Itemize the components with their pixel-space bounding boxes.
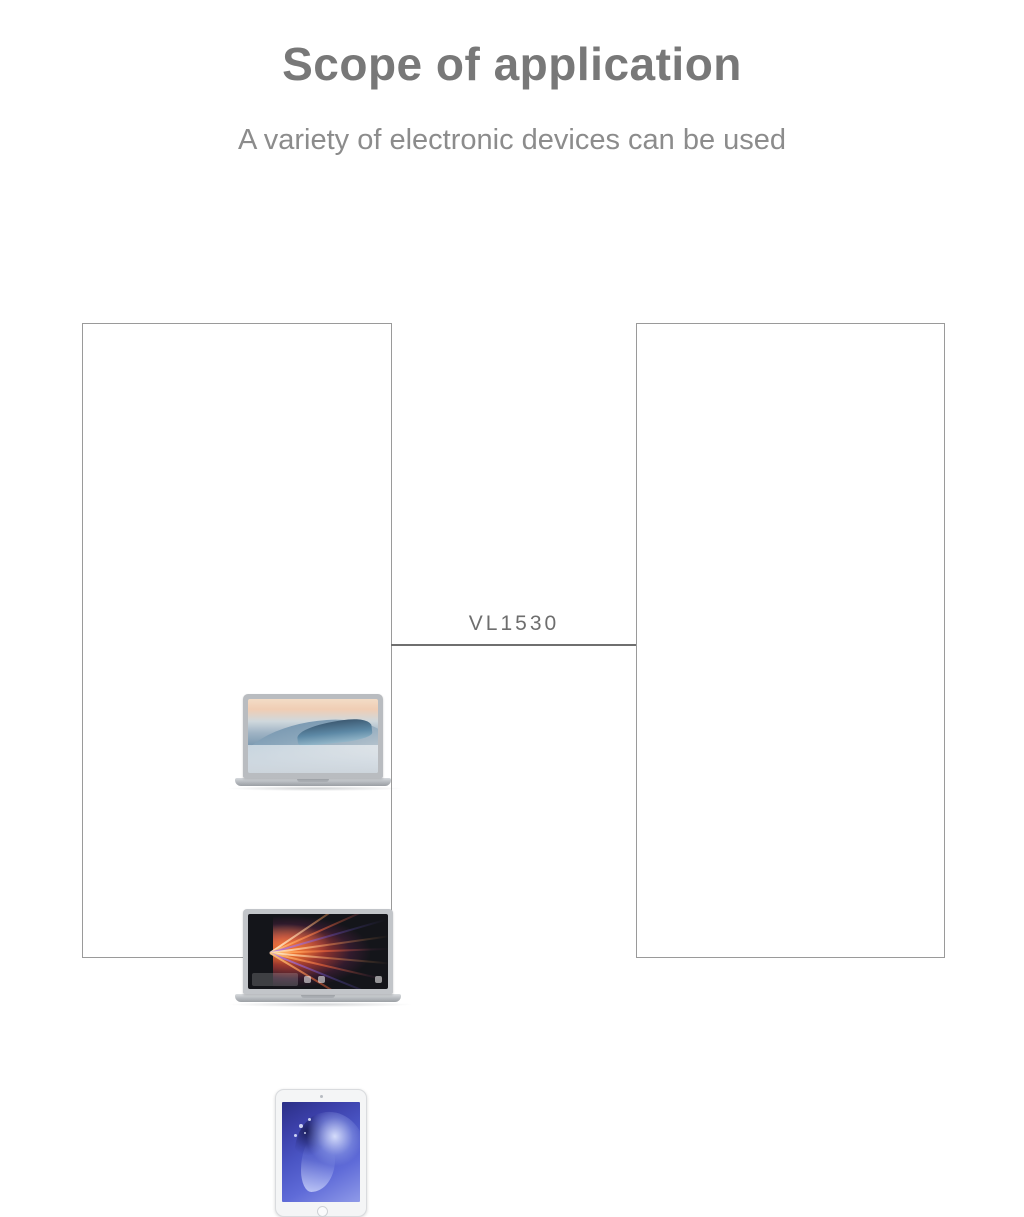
laptop-lid <box>243 694 383 778</box>
page-title: Scope of application <box>0 35 1024 93</box>
display-devices-panel <box>636 323 945 958</box>
connector-line <box>391 644 637 646</box>
tablet-body <box>275 1089 367 1217</box>
tablet-home-button <box>317 1206 328 1217</box>
laptop-lid <box>243 909 393 994</box>
device-shadow <box>229 1002 411 1007</box>
connector-label-vl1530: VL1530 <box>391 612 637 636</box>
laptop-screen-wallpaper <box>248 914 388 989</box>
laptop-notch <box>297 779 329 782</box>
device-laptop-notebook <box>235 909 410 1014</box>
source-devices-panel <box>82 323 392 958</box>
laptop-screen-wallpaper <box>248 699 378 773</box>
laptop-notch <box>301 995 335 998</box>
tablet-screen-wallpaper <box>282 1102 360 1202</box>
page-subtitle: A variety of electronic devices can be u… <box>0 120 1024 160</box>
device-laptop-macbook <box>235 694 405 799</box>
device-tablet-ipad <box>275 1089 367 1217</box>
scope-of-application-graphic: Scope of application A variety of electr… <box>0 0 1024 1024</box>
tablet-camera <box>320 1095 323 1098</box>
device-shadow <box>229 786 401 791</box>
